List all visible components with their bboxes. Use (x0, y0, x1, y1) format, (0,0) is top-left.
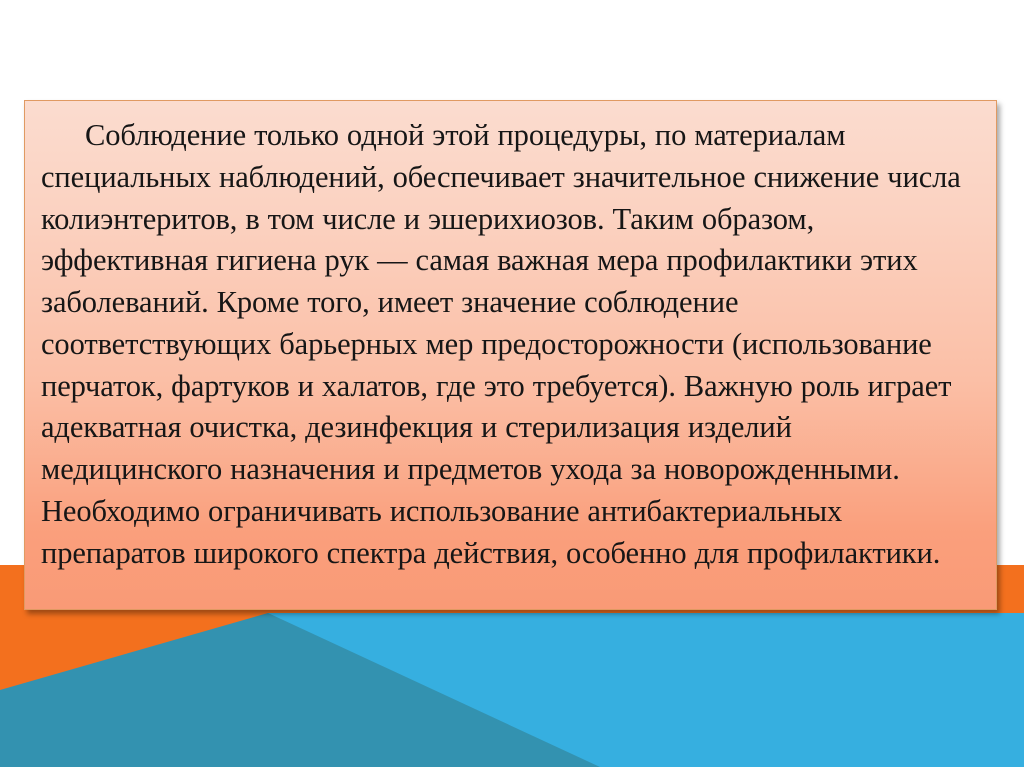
body-paragraph: Соблюдение только одной этой процедуры, … (41, 115, 974, 575)
content-text-card: Соблюдение только одной этой процедуры, … (24, 100, 997, 610)
slide-canvas: Соблюдение только одной этой процедуры, … (0, 0, 1024, 767)
teal-triangle-shape (0, 613, 600, 767)
light-blue-panel-shape (72, 613, 1024, 767)
